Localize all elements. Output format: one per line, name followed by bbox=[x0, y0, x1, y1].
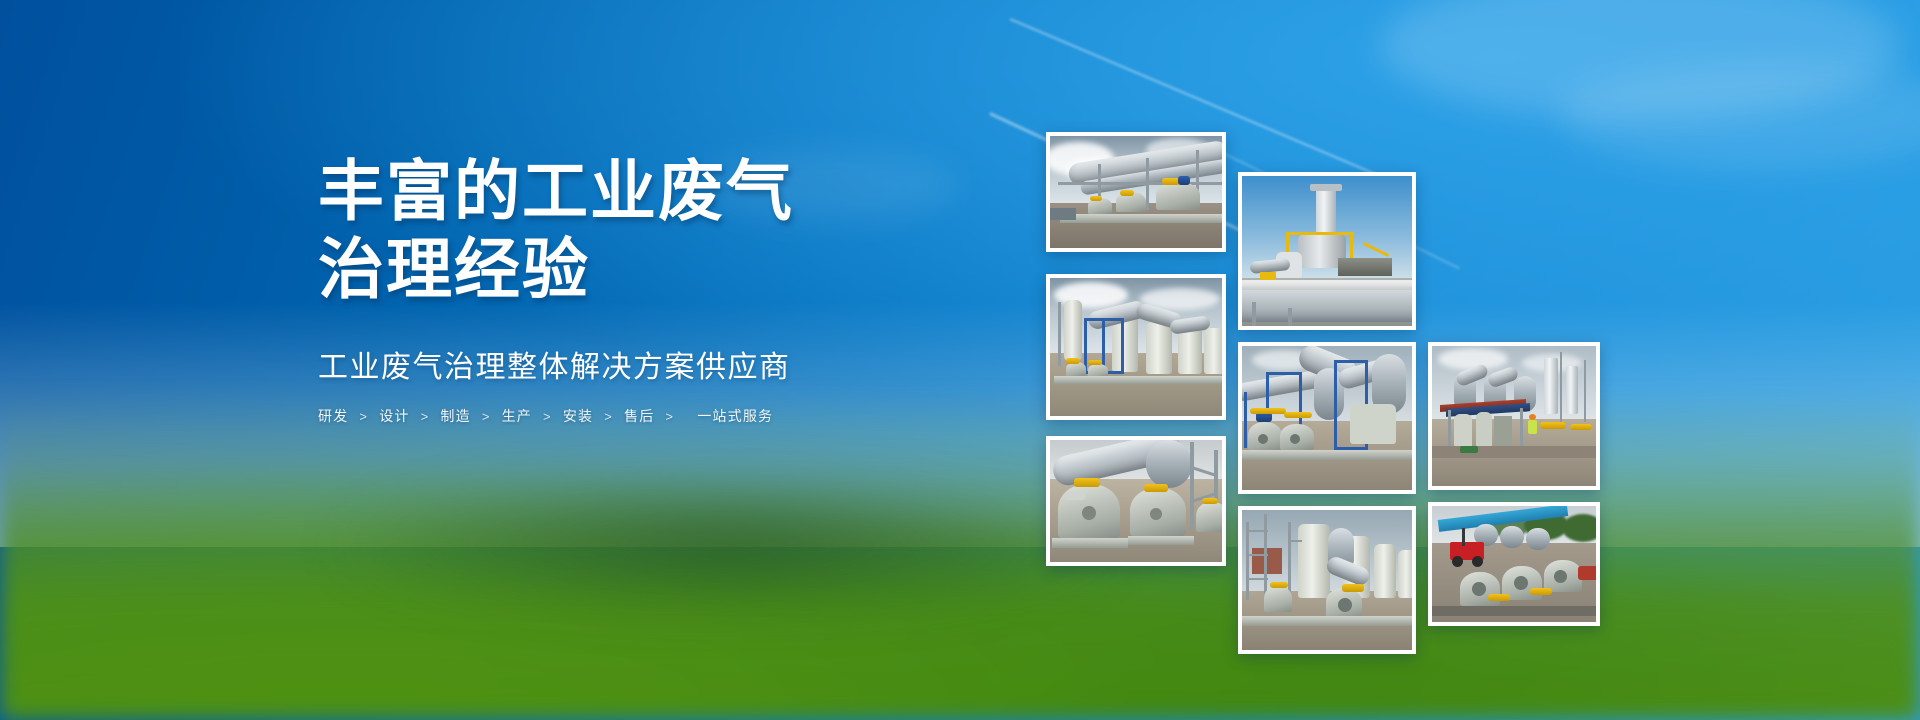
process-step-final: 一站式服务 bbox=[697, 406, 773, 426]
chevron-separator-icon: > bbox=[482, 409, 491, 424]
process-step-5: 安装 bbox=[563, 406, 593, 426]
photo-5-image bbox=[1242, 346, 1412, 490]
process-step-4: 生产 bbox=[502, 406, 532, 426]
gallery-photo-8[interactable] bbox=[1428, 502, 1600, 626]
photo-6-image bbox=[1242, 510, 1412, 650]
chevron-separator-icon: > bbox=[421, 409, 430, 424]
process-step-1: 研发 bbox=[318, 406, 348, 426]
chevron-separator-icon: > bbox=[604, 409, 613, 424]
photo-8-image bbox=[1432, 506, 1596, 622]
gallery-photo-4[interactable] bbox=[1046, 436, 1226, 566]
gallery-photo-2[interactable] bbox=[1238, 172, 1416, 330]
photo-3-image bbox=[1050, 278, 1222, 416]
gallery-photo-7[interactable] bbox=[1428, 342, 1600, 490]
headline-line-1: 丰富的工业废气 bbox=[318, 152, 858, 230]
gallery-photo-1[interactable] bbox=[1046, 132, 1226, 252]
photo-1-image bbox=[1050, 136, 1222, 248]
process-step-6: 售后 bbox=[624, 406, 654, 426]
process-step-3: 制造 bbox=[440, 406, 470, 426]
headline-line-2: 治理经验 bbox=[318, 230, 858, 308]
chevron-separator-icon: > bbox=[665, 409, 674, 424]
photo-7-image bbox=[1432, 346, 1596, 486]
hero-copy: 丰富的工业废气 治理经验 工业废气治理整体解决方案供应商 研发 > 设计 > 制… bbox=[318, 152, 858, 426]
chevron-separator-icon: > bbox=[359, 409, 368, 424]
photo-2-image bbox=[1242, 176, 1412, 326]
gallery-photo-5[interactable] bbox=[1238, 342, 1416, 494]
sub-headline: 工业废气治理整体解决方案供应商 bbox=[318, 348, 858, 388]
photo-4-image bbox=[1050, 440, 1222, 562]
hero-banner: 丰富的工业废气 治理经验 工业废气治理整体解决方案供应商 研发 > 设计 > 制… bbox=[0, 0, 1920, 720]
chevron-separator-icon: > bbox=[543, 409, 552, 424]
process-step-2: 设计 bbox=[379, 406, 409, 426]
gallery-photo-6[interactable] bbox=[1238, 506, 1416, 654]
process-steps: 研发 > 设计 > 制造 > 生产 > 安装 > 售后 > 一站式服务 bbox=[318, 406, 858, 426]
gallery-photo-3[interactable] bbox=[1046, 274, 1226, 420]
